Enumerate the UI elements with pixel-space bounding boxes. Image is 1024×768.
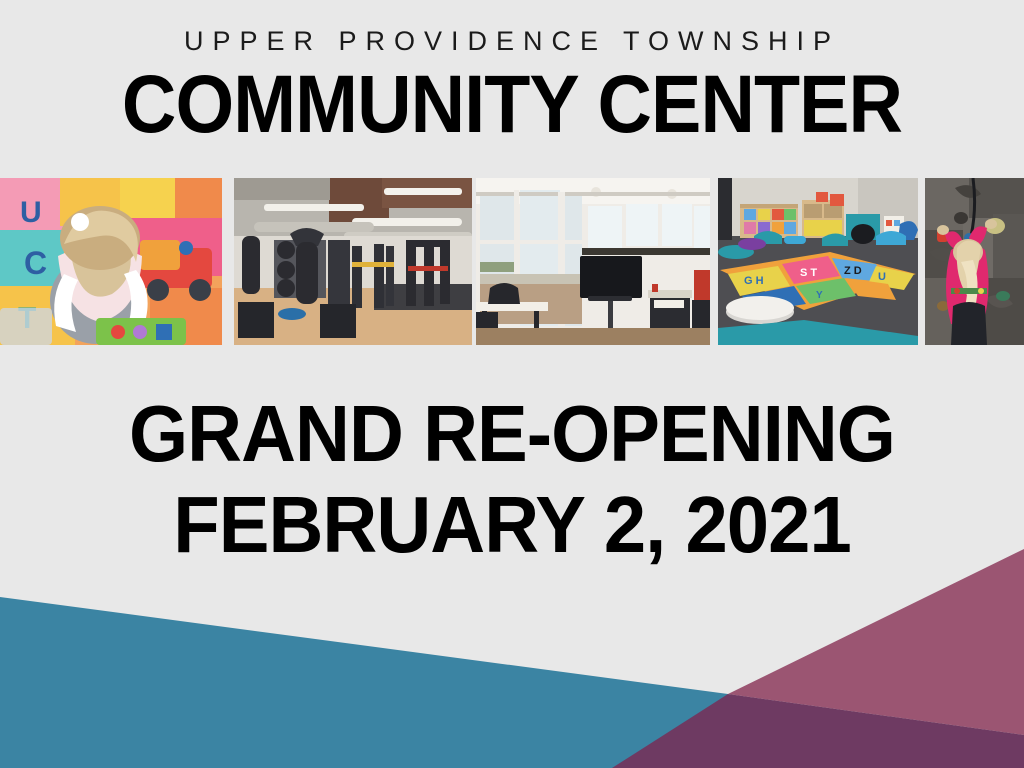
- photo-playroom: G H S T Z D U K L Y: [718, 178, 918, 345]
- eyebrow-text: UPPER PROVIDENCE TOWNSHIP: [184, 26, 840, 57]
- svg-text:S: S: [150, 189, 169, 220]
- headline: GRAND RE-OPENING FEBRUARY 2, 2021: [0, 388, 1024, 570]
- photo-childcare-toddler: U C T S: [0, 178, 222, 345]
- svg-text:C: C: [24, 245, 47, 281]
- photo-fitness-gym: [234, 178, 472, 345]
- page-title: COMMUNITY CENTER: [122, 63, 902, 147]
- blue-triangle-shape: [0, 597, 728, 768]
- plum-triangle-shape: [612, 694, 1024, 768]
- svg-text:Y: Y: [816, 290, 823, 301]
- svg-text:U: U: [878, 271, 886, 283]
- svg-text:U: U: [20, 196, 42, 229]
- photo-strip: U C T S: [0, 178, 1024, 345]
- photo-climbing-wall: [925, 178, 1024, 345]
- headline-line-1: GRAND RE-OPENING: [26, 388, 999, 479]
- photo-meeting-room: [476, 178, 710, 345]
- svg-text:S T: S T: [800, 267, 817, 279]
- mauve-triangle-shape: [728, 549, 1024, 735]
- poster-header: UPPER PROVIDENCE TOWNSHIP COMMUNITY CENT…: [0, 0, 1024, 178]
- headline-line-2: FEBRUARY 2, 2021: [26, 479, 999, 570]
- svg-text:G H: G H: [744, 275, 764, 287]
- svg-text:Z D: Z D: [844, 265, 862, 277]
